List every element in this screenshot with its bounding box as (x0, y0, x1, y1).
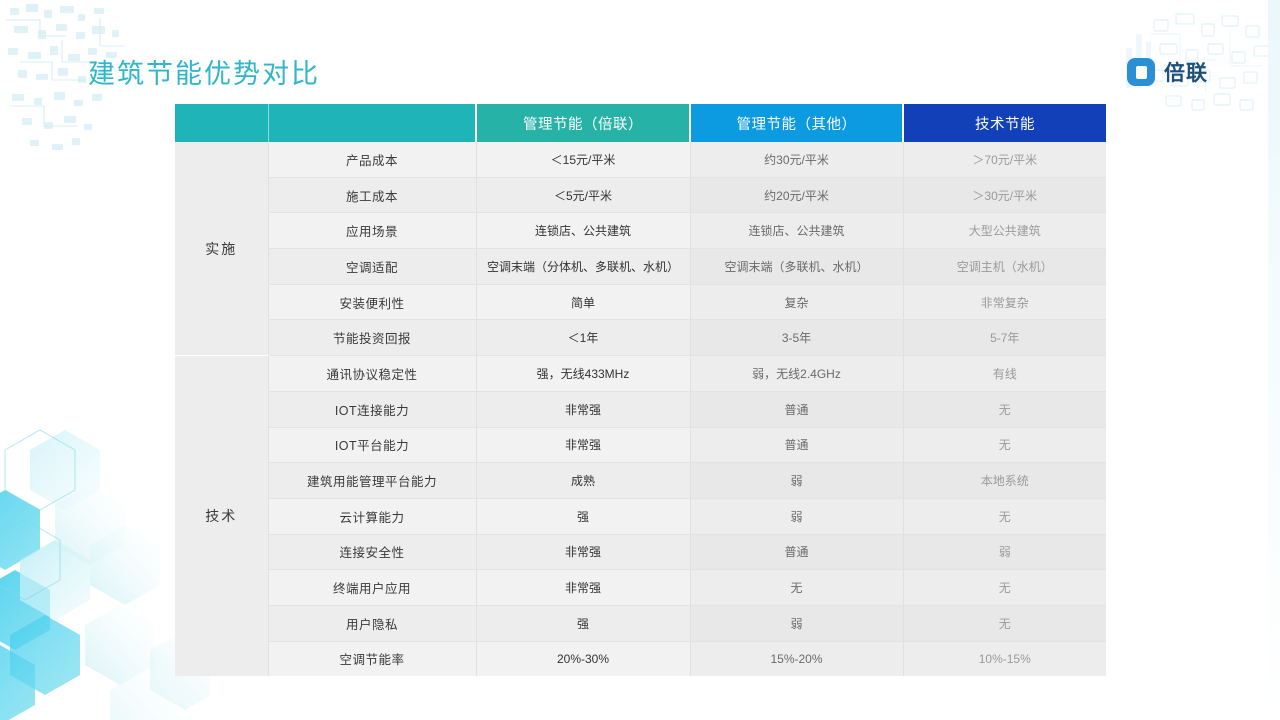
header-cell-item (268, 104, 476, 142)
header-cell-col1: 管理节能（倍联） (476, 104, 690, 142)
header-cell-col2: 管理节能（其他） (690, 104, 903, 142)
value-cell-col3: 本地系统 (903, 463, 1106, 499)
row-label-cell: 连接安全性 (268, 534, 476, 570)
row-label-cell: 终端用户应用 (268, 570, 476, 606)
table-row: 空调适配空调末端（分体机、多联机、水机）空调末端（多联机、水机）空调主机（水机） (175, 249, 1106, 285)
value-cell-col1: 非常强 (476, 534, 690, 570)
brand-name: 倍联 (1164, 57, 1208, 87)
table-row: 云计算能力强弱无 (175, 498, 1106, 534)
value-cell-col3: 弱 (903, 534, 1106, 570)
row-label-cell: 云计算能力 (268, 498, 476, 534)
row-label-cell: 用户隐私 (268, 605, 476, 641)
header-cell-col3: 技术节能 (903, 104, 1106, 142)
row-label-cell: 建筑用能管理平台能力 (268, 463, 476, 499)
value-cell-col3: 大型公共建筑 (903, 213, 1106, 249)
value-cell-col2: 无 (690, 570, 903, 606)
value-cell-col2: 连锁店、公共建筑 (690, 213, 903, 249)
value-cell-col2: 弱 (690, 463, 903, 499)
value-cell-col2: 弱，无线2.4GHz (690, 356, 903, 392)
value-cell-col2: 普通 (690, 391, 903, 427)
value-cell-col1: 非常强 (476, 570, 690, 606)
value-cell-col1: 空调末端（分体机、多联机、水机） (476, 249, 690, 285)
row-label-cell: IOT平台能力 (268, 427, 476, 463)
table-row: 施工成本＜5元/平米约20元/平米＞30元/平米 (175, 177, 1106, 213)
value-cell-col1: 简单 (476, 284, 690, 320)
value-cell-col1: 20%-30% (476, 641, 690, 676)
value-cell-col1: 成熟 (476, 463, 690, 499)
value-cell-col1: ＜5元/平米 (476, 177, 690, 213)
value-cell-col2: 空调末端（多联机、水机） (690, 249, 903, 285)
value-cell-col1: 连锁店、公共建筑 (476, 213, 690, 249)
value-cell-col2: 3-5年 (690, 320, 903, 356)
value-cell-col3: 无 (903, 570, 1106, 606)
table-row: 空调节能率20%-30%15%-20%10%-15% (175, 641, 1106, 676)
header-cell-category (175, 104, 268, 142)
page-title: 建筑节能优势对比 (88, 52, 320, 91)
value-cell-col1: 非常强 (476, 427, 690, 463)
value-cell-col3: 有线 (903, 356, 1106, 392)
value-cell-col3: 5-7年 (903, 320, 1106, 356)
value-cell-col2: 15%-20% (690, 641, 903, 676)
table-row: IOT平台能力非常强普通无 (175, 427, 1106, 463)
value-cell-col3: 10%-15% (903, 641, 1106, 676)
table-row: 实施产品成本＜15元/平米约30元/平米＞70元/平米 (175, 142, 1106, 177)
value-cell-col2: 普通 (690, 534, 903, 570)
comparison-table-container: 管理节能（倍联） 管理节能（其他） 技术节能 实施产品成本＜15元/平米约30元… (175, 104, 1106, 676)
value-cell-col3: 非常复杂 (903, 284, 1106, 320)
category-cell: 实施 (175, 142, 268, 356)
comparison-table: 管理节能（倍联） 管理节能（其他） 技术节能 实施产品成本＜15元/平米约30元… (175, 104, 1106, 676)
value-cell-col1: ＜15元/平米 (476, 142, 690, 177)
value-cell-col2: 约30元/平米 (690, 142, 903, 177)
table-row: 节能投资回报＜1年3-5年5-7年 (175, 320, 1106, 356)
value-cell-col1: ＜1年 (476, 320, 690, 356)
value-cell-col1: 非常强 (476, 391, 690, 427)
brand-logo: 倍联 (1127, 57, 1208, 87)
value-cell-col3: 无 (903, 498, 1106, 534)
table-row: 技术通讯协议稳定性强，无线433MHz弱，无线2.4GHz有线 (175, 356, 1106, 392)
value-cell-col2: 普通 (690, 427, 903, 463)
value-cell-col2: 复杂 (690, 284, 903, 320)
value-cell-col3: ＞30元/平米 (903, 177, 1106, 213)
category-cell: 技术 (175, 356, 268, 677)
table-row: 建筑用能管理平台能力成熟弱本地系统 (175, 463, 1106, 499)
table-row: 应用场景连锁店、公共建筑连锁店、公共建筑大型公共建筑 (175, 213, 1106, 249)
table-body: 实施产品成本＜15元/平米约30元/平米＞70元/平米施工成本＜5元/平米约20… (175, 142, 1106, 676)
row-label-cell: 节能投资回报 (268, 320, 476, 356)
right-edge-gradient (1268, 0, 1280, 720)
row-label-cell: 空调适配 (268, 249, 476, 285)
row-label-cell: 应用场景 (268, 213, 476, 249)
table-header: 管理节能（倍联） 管理节能（其他） 技术节能 (175, 104, 1106, 142)
row-label-cell: 施工成本 (268, 177, 476, 213)
table-row: 终端用户应用非常强无无 (175, 570, 1106, 606)
row-label-cell: 产品成本 (268, 142, 476, 177)
rounded-square-logo-icon (1127, 58, 1155, 86)
value-cell-col1: 强 (476, 605, 690, 641)
value-cell-col3: 无 (903, 605, 1106, 641)
table-row: 连接安全性非常强普通弱 (175, 534, 1106, 570)
table-row: 安装便利性简单复杂非常复杂 (175, 284, 1106, 320)
table-header-row: 管理节能（倍联） 管理节能（其他） 技术节能 (175, 104, 1106, 142)
row-label-cell: 空调节能率 (268, 641, 476, 676)
value-cell-col1: 强，无线433MHz (476, 356, 690, 392)
table-row: IOT连接能力非常强普通无 (175, 391, 1106, 427)
row-label-cell: 通讯协议稳定性 (268, 356, 476, 392)
table-row: 用户隐私强弱无 (175, 605, 1106, 641)
value-cell-col2: 约20元/平米 (690, 177, 903, 213)
value-cell-col3: 空调主机（水机） (903, 249, 1106, 285)
value-cell-col3: 无 (903, 391, 1106, 427)
value-cell-col1: 强 (476, 498, 690, 534)
value-cell-col2: 弱 (690, 605, 903, 641)
value-cell-col3: 无 (903, 427, 1106, 463)
value-cell-col3: ＞70元/平米 (903, 142, 1106, 177)
row-label-cell: 安装便利性 (268, 284, 476, 320)
value-cell-col2: 弱 (690, 498, 903, 534)
row-label-cell: IOT连接能力 (268, 391, 476, 427)
